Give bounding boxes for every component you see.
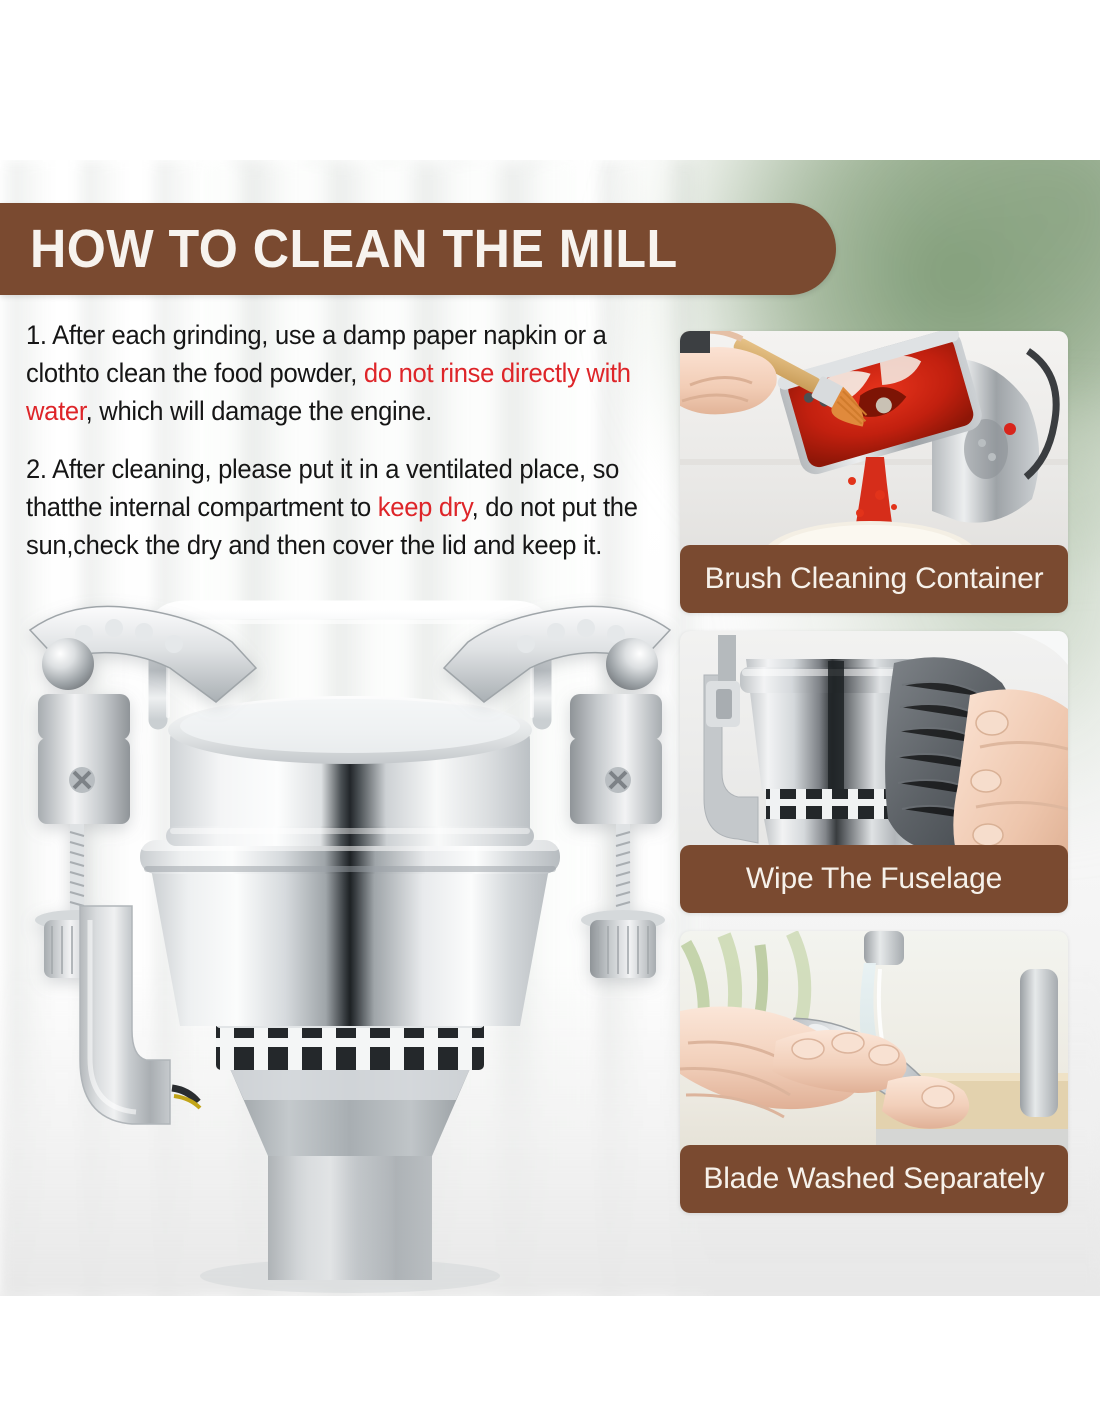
step-2-highlight: keep dry (378, 492, 472, 522)
instruction-step-1: 1. After each grinding, use a damp paper… (26, 316, 658, 430)
page-title: HOW TO CLEAN THE MILL (30, 218, 678, 280)
instructions-block: 1. After each grinding, use a damp paper… (26, 316, 681, 564)
caption-text-3: Blade Washed Separately (703, 1162, 1044, 1196)
caption-text-2: Wipe The Fuselage (746, 862, 1002, 896)
infographic-page: HOW TO CLEAN THE MILL 1. After each grin… (0, 0, 1100, 1422)
instruction-step-2: 2. After cleaning, please put it in a ve… (26, 450, 658, 564)
caption-bar-2: Wipe The Fuselage (680, 845, 1068, 913)
caption-bar-3: Blade Washed Separately (680, 1145, 1068, 1213)
bottom-white-margin (0, 1296, 1100, 1422)
step-1-text-b: , which will damage the engine. (86, 396, 432, 426)
header-banner: HOW TO CLEAN THE MILL (0, 203, 836, 295)
card-wipe-the-fuselage[interactable]: Wipe The Fuselage (680, 631, 1068, 913)
caption-bar-1: Brush Cleaning Container (680, 545, 1068, 613)
hero-product-photo (20, 590, 680, 1296)
card-brush-cleaning-container[interactable]: Brush Cleaning Container (680, 331, 1068, 613)
caption-text-1: Brush Cleaning Container (705, 562, 1044, 596)
card-blade-washed-separately[interactable]: Blade Washed Separately (680, 931, 1068, 1213)
steps-photo-column: Brush Cleaning Container (680, 331, 1080, 1213)
